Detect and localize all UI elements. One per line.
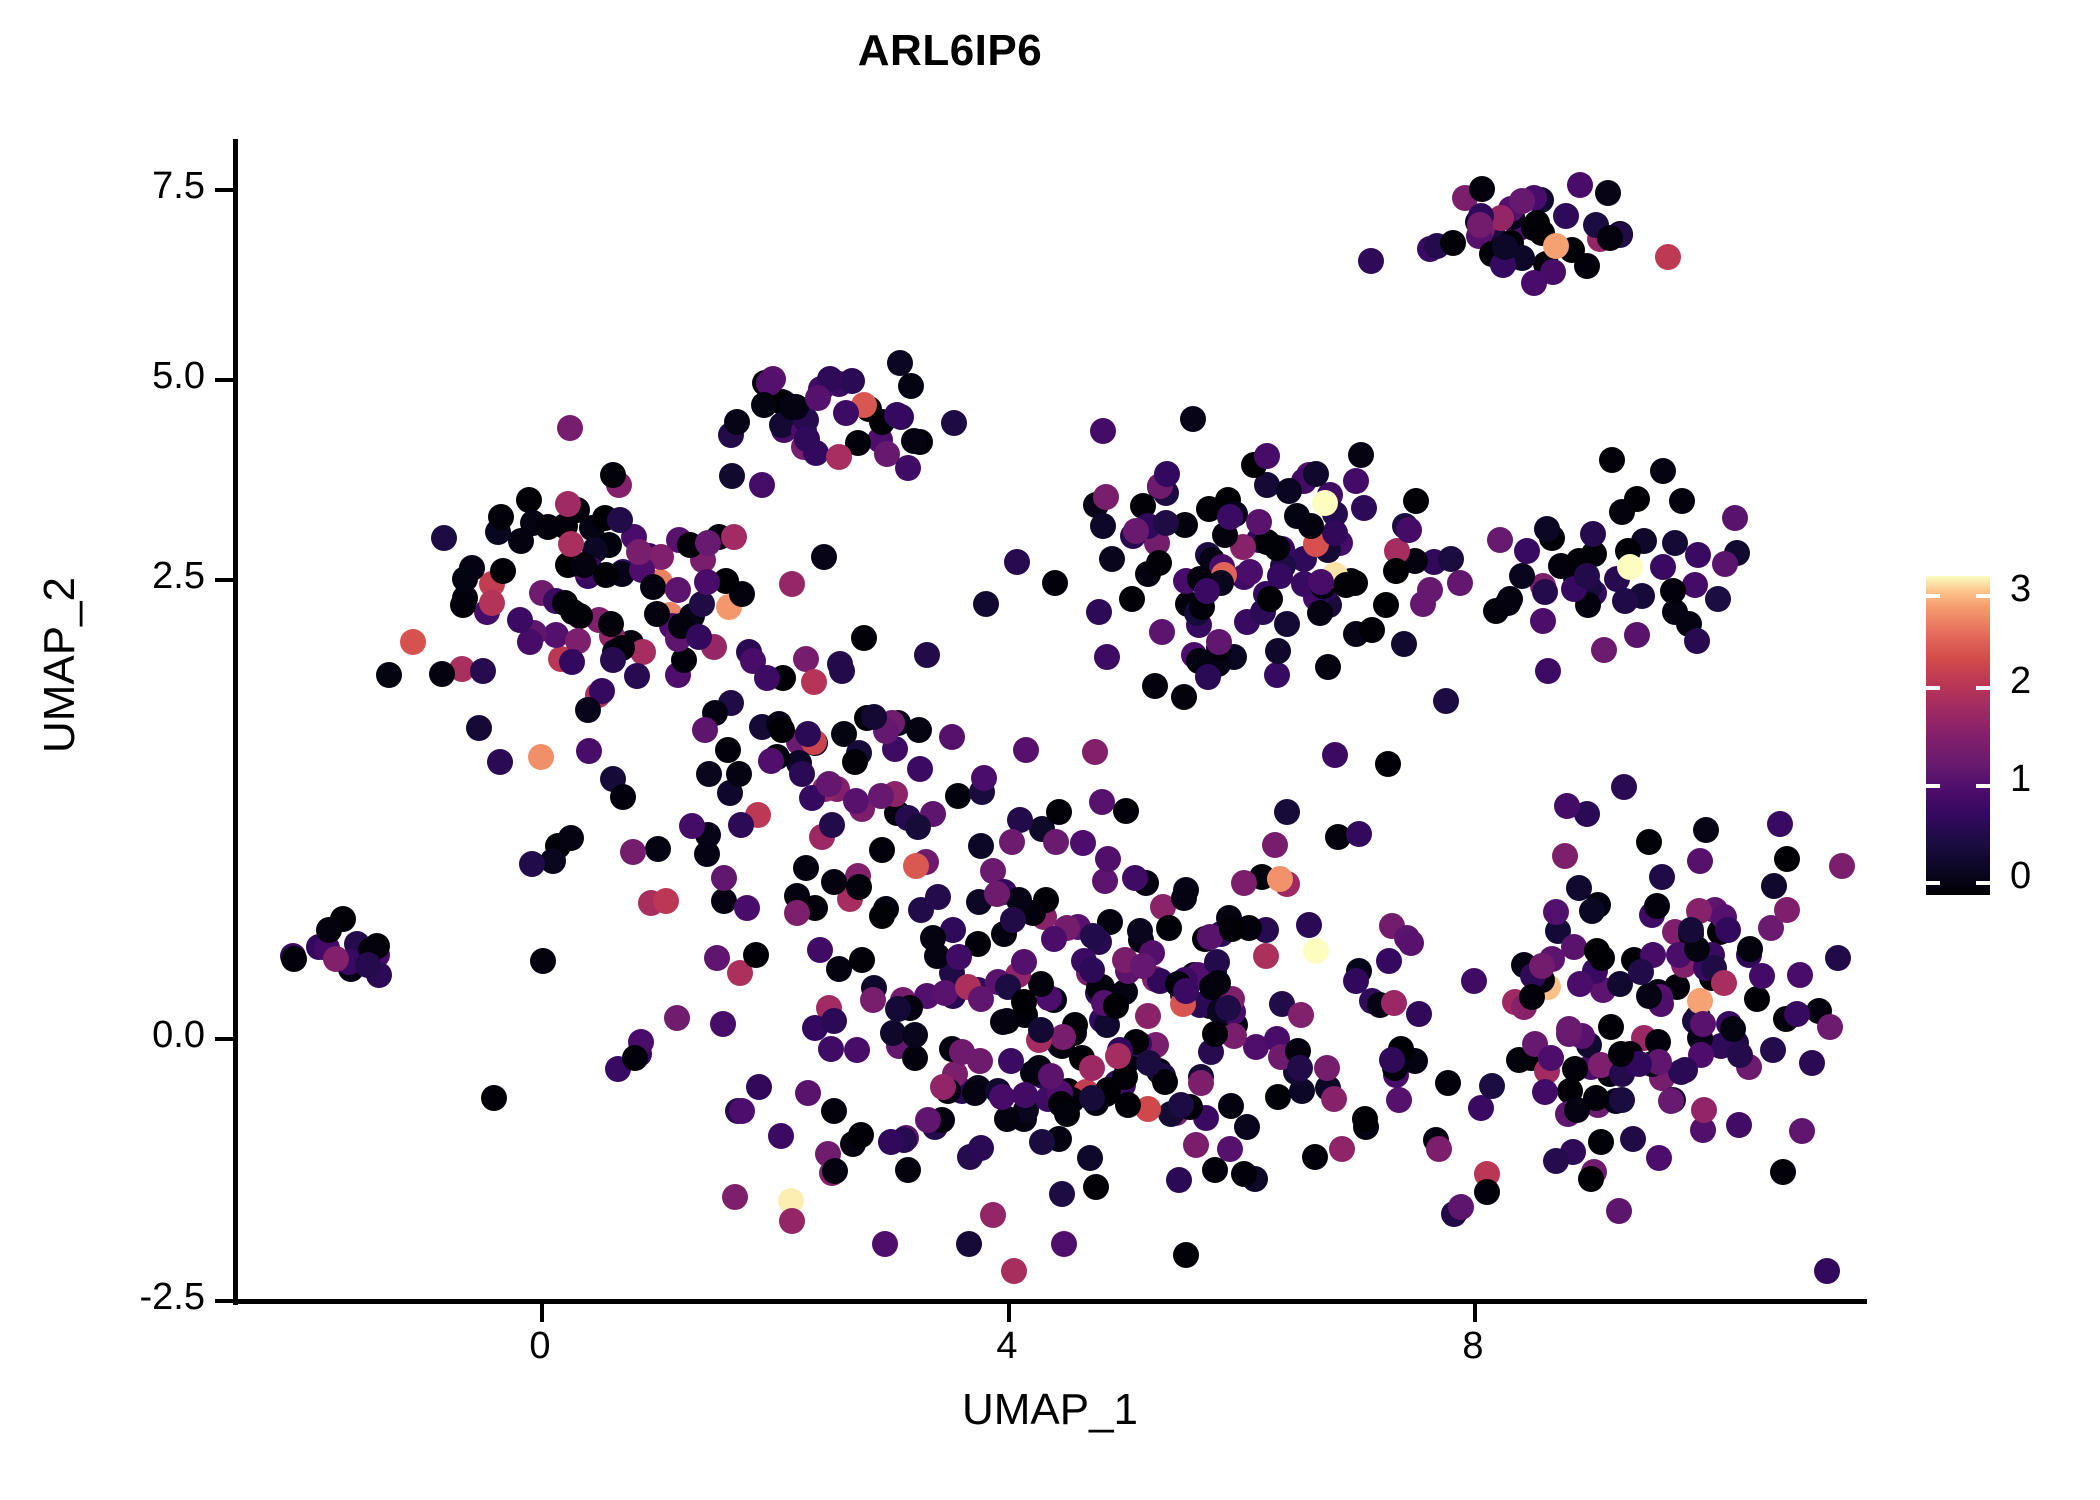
scatter-point	[1274, 611, 1300, 637]
scatter-point	[1321, 1086, 1347, 1112]
colorbar-tick-1-right	[1976, 784, 1990, 788]
scatter-point	[1433, 688, 1459, 714]
scatter-point	[1552, 843, 1578, 869]
scatter-point	[848, 1122, 874, 1148]
scatter-point	[779, 571, 805, 597]
scatter-point	[1028, 1017, 1054, 1043]
scatter-point	[1303, 461, 1329, 487]
scatter-point	[1217, 504, 1243, 530]
scatter-point	[519, 851, 545, 877]
scatter-point	[869, 903, 895, 929]
y-axis-title: UMAP_2	[35, 455, 85, 875]
x-tick-mark-4	[1007, 1304, 1011, 1322]
scatter-point	[490, 558, 516, 584]
scatter-point	[1348, 442, 1374, 468]
scatter-point	[907, 756, 933, 782]
chart-root: ARL6IP6 7.5 5.0 2.5 0.0 -2.5 0 4 8 UMAP_…	[0, 0, 2100, 1500]
scatter-point	[1142, 673, 1168, 699]
scatter-point	[968, 833, 994, 859]
scatter-point	[1814, 1258, 1840, 1284]
scatter-point	[1398, 930, 1424, 956]
scatter-point	[903, 853, 929, 879]
scatter-point	[1206, 629, 1232, 655]
scatter-point	[1099, 546, 1125, 572]
scatter-point	[696, 761, 722, 787]
scatter-point	[1829, 853, 1855, 879]
scatter-point	[885, 996, 911, 1022]
scatter-point	[1358, 248, 1384, 274]
scatter-point	[1553, 203, 1579, 229]
scatter-point	[887, 350, 913, 376]
scatter-point	[1265, 638, 1291, 664]
scatter-point	[610, 784, 636, 810]
scatter-point	[1588, 1129, 1614, 1155]
scatter-point	[962, 1080, 988, 1106]
scatter-point	[829, 658, 855, 684]
scatter-point	[704, 945, 730, 971]
scatter-point	[1004, 549, 1030, 575]
scatter-point	[1171, 885, 1197, 911]
scatter-point	[728, 812, 754, 838]
scatter-point	[644, 601, 670, 627]
scatter-point	[1598, 1014, 1624, 1040]
scatter-point	[1267, 866, 1293, 892]
scatter-point	[1817, 1014, 1843, 1040]
scatter-point	[653, 888, 679, 914]
scatter-point	[1329, 1136, 1355, 1162]
colorbar-tick-3-left	[1926, 594, 1940, 598]
scatter-point	[1650, 458, 1676, 484]
scatter-point	[751, 392, 777, 418]
scatter-point	[1617, 554, 1643, 580]
scatter-point	[431, 525, 457, 551]
scatter-point	[1595, 180, 1621, 206]
scatter-point	[686, 624, 712, 650]
scatter-point	[1376, 948, 1402, 974]
scatter-point	[990, 1009, 1016, 1035]
scatter-point	[1314, 1055, 1340, 1081]
scatter-point	[869, 837, 895, 863]
y-tick-mark-0.0	[215, 1037, 233, 1041]
scatter-point	[884, 402, 910, 428]
scatter-point	[895, 455, 921, 481]
scatter-point	[1574, 563, 1600, 589]
x-axis-line	[233, 1299, 1867, 1304]
scatter-point	[1307, 600, 1333, 626]
scatter-point	[1113, 798, 1139, 824]
scatter-point	[1799, 1050, 1825, 1076]
scatter-point	[849, 947, 875, 973]
scatter-point	[1094, 644, 1120, 670]
scatter-point	[1046, 799, 1072, 825]
scatter-point	[1650, 554, 1676, 580]
scatter-point	[1077, 1145, 1103, 1171]
scatter-point	[1265, 1084, 1291, 1110]
scatter-point	[795, 1080, 821, 1106]
scatter-point	[1054, 1101, 1080, 1127]
scatter-point	[1166, 1167, 1192, 1193]
colorbar-gradient	[1926, 576, 1990, 895]
scatter-point	[1597, 225, 1623, 251]
y-tick-mark-5.0	[215, 378, 233, 382]
colorbar-label-3: 3	[2010, 568, 2080, 611]
scatter-point	[558, 531, 584, 557]
scatter-point	[1276, 478, 1302, 504]
scatter-point	[558, 825, 584, 851]
scatter-point	[1579, 898, 1605, 924]
scatter-point	[1467, 212, 1493, 238]
scatter-point	[626, 539, 652, 565]
scatter-point	[1246, 509, 1272, 535]
scatter-point	[1789, 1118, 1815, 1144]
scatter-point	[1386, 1087, 1412, 1113]
scatter-point	[1001, 1258, 1027, 1284]
scatter-point	[1474, 1179, 1500, 1205]
scatter-point	[1090, 513, 1116, 539]
scatter-point	[811, 544, 837, 570]
scatter-point	[1521, 270, 1547, 296]
scatter-point	[801, 669, 827, 695]
scatter-point	[1194, 578, 1220, 604]
scatter-point	[1492, 234, 1518, 260]
scatter-point	[1658, 1088, 1684, 1114]
scatter-point	[1591, 637, 1617, 663]
scatter-point	[1011, 949, 1037, 975]
scatter-point	[941, 410, 967, 436]
scatter-point	[1599, 447, 1625, 473]
scatter-point	[1130, 953, 1156, 979]
scatter-point	[945, 783, 971, 809]
scatter-point	[998, 1048, 1024, 1074]
scatter-point	[1217, 1136, 1243, 1162]
scatter-point	[1379, 1047, 1405, 1073]
scatter-point	[1727, 1042, 1753, 1068]
x-tick-label-0: 0	[480, 1325, 600, 1368]
scatter-point	[821, 869, 847, 895]
scatter-point	[1479, 1073, 1505, 1099]
scatter-point	[1438, 546, 1464, 572]
scatter-point	[1253, 943, 1279, 969]
scatter-point	[400, 629, 426, 655]
scatter-point	[946, 944, 972, 970]
scatter-point	[1264, 535, 1290, 561]
scatter-point	[1149, 619, 1175, 645]
scatter-point	[1448, 1194, 1474, 1220]
scatter-point	[719, 463, 745, 489]
scatter-point	[1173, 1242, 1199, 1268]
scatter-point	[895, 1157, 921, 1183]
scatter-point	[821, 1098, 847, 1124]
scatter-point	[939, 724, 965, 750]
scatter-point	[507, 607, 533, 633]
scatter-point	[1770, 1159, 1796, 1185]
scatter-point	[906, 717, 932, 743]
y-tick-mark-2.5	[215, 578, 233, 582]
scatter-point	[1678, 917, 1704, 943]
scatter-point	[724, 409, 750, 435]
scatter-point	[1649, 864, 1675, 890]
scatter-point	[1687, 988, 1713, 1014]
scatter-point	[1519, 984, 1545, 1010]
scatter-point	[620, 839, 646, 865]
scatter-point	[692, 717, 718, 743]
scatter-point	[1660, 578, 1686, 604]
scatter-point	[925, 884, 951, 910]
scatter-point	[833, 400, 859, 426]
scatter-point	[980, 1202, 1006, 1228]
scatter-point	[1535, 658, 1561, 684]
scatter-point	[1722, 505, 1748, 531]
scatter-point	[1624, 622, 1650, 648]
scatter-point	[1029, 1129, 1055, 1155]
scatter-point	[640, 574, 666, 600]
scatter-point	[1530, 608, 1556, 634]
scatter-point	[450, 592, 476, 618]
scatter-point	[1825, 945, 1851, 971]
scatter-point	[915, 1107, 941, 1133]
scatter-point	[1082, 739, 1108, 765]
scatter-point	[1343, 968, 1369, 994]
scatter-point	[872, 1231, 898, 1257]
scatter-point	[930, 1074, 956, 1100]
x-tick-mark-8	[1473, 1304, 1477, 1322]
scatter-point	[754, 665, 780, 691]
scatter-point	[488, 504, 514, 530]
scatter-point	[846, 874, 872, 900]
scatter-point	[843, 788, 869, 814]
scatter-point	[1417, 577, 1443, 603]
scatter-point	[1391, 631, 1417, 657]
scatter-point	[1532, 579, 1558, 605]
colorbar-tick-3-right	[1976, 594, 1990, 598]
scatter-point	[1461, 968, 1487, 994]
scatter-point	[722, 1184, 748, 1210]
scatter-point	[1343, 468, 1369, 494]
scatter-point	[1383, 558, 1409, 584]
scatter-point	[528, 744, 554, 770]
x-tick-label-4: 4	[947, 1325, 1067, 1368]
scatter-point	[1514, 538, 1540, 564]
scatter-point	[624, 663, 650, 689]
scatter-point	[1322, 520, 1348, 546]
scatter-point	[711, 865, 737, 891]
scatter-point	[1620, 1126, 1646, 1152]
scatter-point	[1567, 971, 1593, 997]
scatter-point	[665, 577, 691, 603]
scatter-point	[793, 646, 819, 672]
scatter-point	[1655, 244, 1681, 270]
scatter-point	[1669, 488, 1695, 514]
scatter-point	[1315, 654, 1341, 680]
scatter-point	[1554, 793, 1580, 819]
scatter-point	[1774, 846, 1800, 872]
scatter-point	[818, 1036, 844, 1062]
scatter-point	[1705, 586, 1731, 612]
scatter-point	[1041, 926, 1067, 952]
x-axis-title: UMAP_1	[233, 1385, 1867, 1435]
scatter-point	[1080, 923, 1106, 949]
scatter-point	[559, 649, 585, 675]
scatter-point	[1761, 873, 1787, 899]
scatter-point	[1608, 1041, 1634, 1067]
scatter-point	[376, 662, 402, 688]
colorbar-tick-0-right	[1976, 881, 1990, 885]
scatter-point	[898, 373, 924, 399]
scatter-point	[1426, 1136, 1452, 1162]
scatter-point	[1127, 918, 1153, 944]
scatter-point	[805, 385, 831, 411]
scatter-point	[994, 1106, 1020, 1132]
scatter-point	[1089, 789, 1115, 815]
scatter-point	[1447, 570, 1473, 596]
scatter-point	[1183, 1132, 1209, 1158]
scatter-point	[1662, 530, 1688, 556]
scatter-point	[1497, 586, 1523, 612]
scatter-point	[479, 590, 505, 616]
scatter-point	[1609, 1087, 1635, 1113]
scatter-point	[1254, 443, 1280, 469]
scatter-point	[1435, 1070, 1461, 1096]
scatter-point	[999, 829, 1025, 855]
scatter-point	[1687, 848, 1713, 874]
scatter-point	[487, 749, 513, 775]
scatter-point	[1302, 1144, 1328, 1170]
scatter-point	[530, 948, 556, 974]
scatter-point	[1538, 1045, 1564, 1071]
scatter-point	[795, 721, 821, 747]
scatter-point	[1628, 959, 1654, 985]
scatter-point	[679, 813, 705, 839]
y-tick-label-0.0: 0.0	[55, 1014, 205, 1057]
scatter-point	[1543, 899, 1569, 925]
colorbar-tick-2-right	[1976, 686, 1990, 690]
scatter-point	[355, 952, 381, 978]
y-tick-label--2.5: -2.5	[55, 1276, 205, 1319]
scatter-point	[689, 591, 715, 617]
scatter-point	[710, 1011, 736, 1037]
scatter-point	[1767, 811, 1793, 837]
scatter-point	[1715, 917, 1741, 943]
scatter-point	[989, 1084, 1015, 1110]
scatter-point	[1070, 830, 1096, 856]
scatter-point	[715, 737, 741, 763]
scatter-point	[1095, 846, 1121, 872]
scatter-point	[593, 562, 619, 588]
scatter-point	[793, 855, 819, 881]
scatter-point	[807, 937, 833, 963]
scatter-point	[1051, 1231, 1077, 1257]
scatter-point	[1092, 868, 1118, 894]
scatter-point	[466, 715, 492, 741]
scatter-point	[1288, 1002, 1314, 1028]
scatter-point	[1691, 1097, 1717, 1123]
scatter-point	[905, 814, 931, 840]
scatter-point	[1171, 684, 1197, 710]
scatter-point	[694, 841, 720, 867]
scatter-point	[1690, 1011, 1716, 1037]
scatter-point	[1123, 518, 1149, 544]
scatter-point	[1749, 963, 1775, 989]
scatter-point	[746, 1074, 772, 1100]
scatter-point	[1195, 664, 1221, 690]
scatter-point	[1122, 865, 1148, 891]
scatter-point	[1352, 1106, 1378, 1132]
scatter-point	[1105, 1043, 1131, 1069]
scatter-point	[481, 1085, 507, 1111]
scatter-point	[1231, 870, 1257, 896]
scatter-point	[819, 812, 845, 838]
scatter-point	[1403, 488, 1429, 514]
scatter-point	[1262, 832, 1288, 858]
scatter-point	[1406, 1001, 1432, 1027]
scatter-point	[1079, 957, 1105, 983]
scatter-point	[1274, 799, 1300, 825]
scatter-point	[729, 1098, 755, 1124]
scatter-point	[1135, 1003, 1161, 1029]
scatter-point	[1180, 406, 1206, 432]
scatter-point	[860, 987, 886, 1013]
scatter-point	[1682, 572, 1708, 598]
y-tick-label-7.5: 7.5	[55, 165, 205, 208]
scatter-point	[932, 980, 958, 1006]
scatter-point	[1720, 1016, 1746, 1042]
scatter-point	[1684, 628, 1710, 654]
scatter-point	[1312, 490, 1338, 516]
scatter-point	[281, 946, 307, 972]
scatter-point	[1396, 517, 1422, 543]
scatter-point	[1154, 461, 1180, 487]
scatter-point	[734, 895, 760, 921]
scatter-point	[1000, 907, 1026, 933]
scatter-point	[851, 625, 877, 651]
scatter-point	[1612, 588, 1638, 614]
scatter-point	[645, 836, 671, 862]
scatter-point	[1146, 550, 1172, 576]
page-title: ARL6IP6	[0, 26, 1900, 76]
scatter-point	[973, 591, 999, 617]
scatter-point	[1012, 1082, 1038, 1108]
scatter-point	[1219, 916, 1245, 942]
scatter-point	[861, 704, 887, 730]
scatter-point	[844, 1037, 870, 1063]
scatter-point	[1583, 1085, 1609, 1111]
scatter-point	[1760, 1037, 1786, 1063]
scatter-point	[1509, 188, 1535, 214]
scatter-point	[768, 1123, 794, 1149]
scatter-point	[1115, 1092, 1141, 1118]
scatter-point	[743, 942, 769, 968]
scatter-point	[1373, 592, 1399, 618]
scatter-point	[949, 1039, 975, 1065]
scatter-point	[1712, 551, 1738, 577]
scatter-point	[1322, 742, 1348, 768]
scatter-point	[914, 642, 940, 668]
scatter-point	[1562, 1056, 1588, 1082]
scatter-point	[1086, 599, 1112, 625]
scatter-point	[598, 611, 624, 637]
scatter-point	[557, 415, 583, 441]
scatter-point	[1532, 1079, 1558, 1105]
y-tick-mark-7.5	[215, 188, 233, 192]
scatter-point	[316, 917, 342, 943]
scatter-point	[1042, 570, 1068, 596]
scatter-point	[1606, 1198, 1632, 1224]
scatter-point	[1636, 829, 1662, 855]
scatter-point	[1784, 1001, 1810, 1027]
scatter-point	[1636, 983, 1662, 1009]
colorbar-tick-1-left	[1926, 784, 1940, 788]
scatter-point	[1534, 516, 1560, 542]
